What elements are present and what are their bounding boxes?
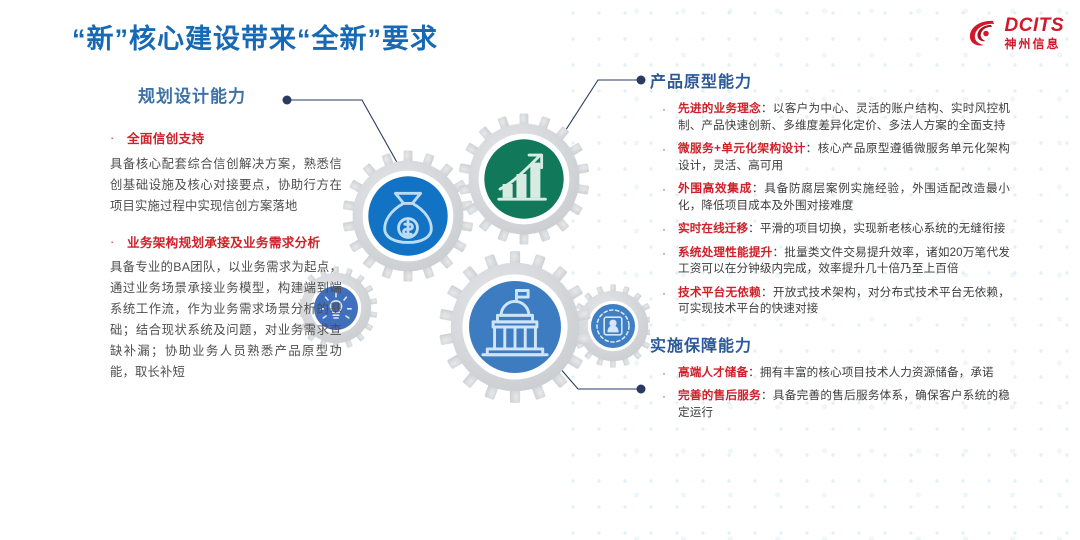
left-block-2-body: 具备专业的BA团队，以业务需求为起点，通过业务场景承接业务模型，构建端到端系统工…: [110, 257, 342, 383]
bullet-dot-icon: ·: [110, 233, 118, 250]
list-item-key: 微服务+单元化架构设计: [678, 142, 806, 155]
list-item-sep: ：: [772, 246, 784, 259]
section-heading-product-prototype: 产品原型能力: [650, 68, 1010, 92]
list-item-sep: ：: [761, 389, 773, 402]
left-block-2: · 业务架构规划承接及业务需求分析 具备专业的BA团队，以业务需求为起点，通过业…: [110, 233, 342, 383]
list-item-text: 完善的售后服务：具备完善的售后服务体系，确保客户系统的稳定运行: [678, 388, 1010, 421]
section-product-prototype: 产品原型能力 · 先进的业务理念：以客户为中心、灵活的账户结构、实时风控机制、产…: [650, 68, 1010, 318]
page-title: “新”核心建设带来“全新”要求: [72, 17, 438, 56]
connector-dot-right-bottom: [637, 385, 646, 394]
brand-logo: DCITS 神州信息: [968, 16, 1065, 50]
slide-canvas: “新”核心建设带来“全新”要求 DCITS 神州信息: [0, 0, 1080, 540]
list-item-text: 高端人才储备：拥有丰富的核心项目技术人力资源储备，承诺: [678, 365, 994, 382]
list-item-text: 先进的业务理念：以客户为中心、灵活的账户结构、实时风控机制、产品快速创新、多维度…: [678, 101, 1010, 134]
section-item-list-implementation: · 高端人才储备：拥有丰富的核心项目技术人力资源储备，承诺 · 完善的售后服务：…: [650, 365, 1010, 422]
list-item-desc: 拥有丰富的核心项目技术人力资源储备，承诺: [760, 366, 994, 379]
swoosh-icon: [968, 18, 1000, 48]
list-item-key: 高端人才储备: [678, 366, 748, 379]
list-item-sep: ：: [761, 102, 773, 115]
section-implementation-assurance: 实施保障能力 · 高端人才储备：拥有丰富的核心项目技术人力资源储备，承诺 · 完…: [650, 332, 1010, 422]
list-item-sep: ：: [748, 222, 760, 235]
list-item-text: 微服务+单元化架构设计：核心产品原型遵循微服务单元化架构设计，灵活、高可用: [678, 141, 1010, 174]
list-item-key: 系统处理性能提升: [678, 246, 772, 259]
list-item-key: 实时在线迁移: [678, 222, 748, 235]
list-item-text: 系统处理性能提升：批量类文件交易提升效率，诸如20万笔代发工资可以在分钟级内完成…: [678, 245, 1010, 278]
left-block-2-title: 业务架构规划承接及业务需求分析: [127, 233, 320, 253]
bullet-dot-icon: ·: [662, 245, 668, 261]
list-item: · 先进的业务理念：以客户为中心、灵活的账户结构、实时风控机制、产品快速创新、多…: [650, 101, 1010, 134]
left-column: 规划设计能力 · 全面信创支持 具备核心配套综合信创解决方案，熟悉信创基础设施及…: [110, 82, 342, 391]
bullet-dot-icon: ·: [662, 141, 668, 157]
list-item-key: 技术平台无依赖: [678, 286, 761, 299]
list-item-text: 技术平台无依赖：开放式技术架构，对分布式技术平台无依赖，可实现技术平台的快速对接: [678, 285, 1010, 318]
left-block-1-body: 具备核心配套综合信创解决方案，熟悉信创基础设施及核心对接要点，协助行方在项目实施…: [110, 154, 342, 217]
list-item-text: 外围高效集成：具备防腐层案例实施经验，外围适配改造最小化，降低项目成本及外围对接…: [678, 181, 1010, 214]
section-heading-implementation: 实施保障能力: [650, 332, 1010, 356]
section-item-list-product: · 先进的业务理念：以客户为中心、灵活的账户结构、实时风控机制、产品快速创新、多…: [650, 101, 1010, 318]
right-column: 产品原型能力 · 先进的业务理念：以客户为中心、灵活的账户结构、实时风控机制、产…: [650, 68, 1010, 428]
list-item: · 外围高效集成：具备防腐层案例实施经验，外围适配改造最小化，降低项目成本及外围…: [650, 181, 1010, 214]
list-item-key: 先进的业务理念: [678, 102, 761, 115]
list-item: · 完善的售后服务：具备完善的售后服务体系，确保客户系统的稳定运行: [650, 388, 1010, 421]
logo-name-en: DCITS: [1005, 16, 1065, 35]
bullet-dot-icon: ·: [662, 285, 668, 301]
bullet-dot-icon: ·: [662, 181, 668, 197]
left-block-1-title: 全面信创支持: [127, 129, 204, 149]
connector-path-right-bottom: [527, 330, 641, 389]
logo-name-cn: 神州信息: [1005, 38, 1065, 50]
growth-chart-gear: [459, 113, 590, 244]
list-item: · 实时在线迁移：平滑的项目切换，实现新老核心系统的无缝衔接: [650, 221, 1010, 238]
bullet-dot-icon: ·: [110, 129, 118, 146]
gear-cluster-graphic: [300, 95, 650, 440]
connector-path-right-top: [540, 80, 641, 170]
bullet-dot-icon: ·: [662, 388, 668, 404]
money-bag-gear: [343, 150, 474, 281]
bullet-dot-icon: ·: [662, 221, 668, 237]
list-item-sep: ：: [752, 182, 764, 195]
left-column-heading: 规划设计能力: [138, 82, 342, 107]
list-item-sep: ：: [806, 142, 818, 155]
list-item: · 技术平台无依赖：开放式技术架构，对分布式技术平台无依赖，可实现技术平台的快速…: [650, 285, 1010, 318]
person-badge-gear: [572, 284, 650, 367]
list-item: · 系统处理性能提升：批量类文件交易提升效率，诸如20万笔代发工资可以在分钟级内…: [650, 245, 1010, 278]
connector-dot-right-top: [637, 76, 646, 85]
left-block-1: · 全面信创支持 具备核心配套综合信创解决方案，熟悉信创基础设施及核心对接要点，…: [110, 129, 342, 217]
list-item-sep: ：: [761, 286, 773, 299]
bullet-dot-icon: ·: [662, 365, 668, 381]
left-block-2-title-row: · 业务架构规划承接及业务需求分析: [110, 233, 342, 253]
list-item-sep: ：: [748, 366, 760, 379]
bullet-dot-icon: ·: [662, 101, 668, 117]
list-item-text: 实时在线迁移：平滑的项目切换，实现新老核心系统的无缝衔接: [678, 221, 1005, 238]
list-item: · 微服务+单元化架构设计：核心产品原型遵循微服务单元化架构设计，灵活、高可用: [650, 141, 1010, 174]
list-item-desc: 平滑的项目切换，实现新老核心系统的无缝衔接: [760, 222, 1006, 235]
list-item-key: 外围高效集成: [678, 182, 752, 195]
list-item-key: 完善的售后服务: [678, 389, 761, 402]
left-block-1-title-row: · 全面信创支持: [110, 129, 342, 149]
list-item: · 高端人才储备：拥有丰富的核心项目技术人力资源储备，承诺: [650, 365, 1010, 382]
bank-building-gear: [439, 251, 590, 403]
